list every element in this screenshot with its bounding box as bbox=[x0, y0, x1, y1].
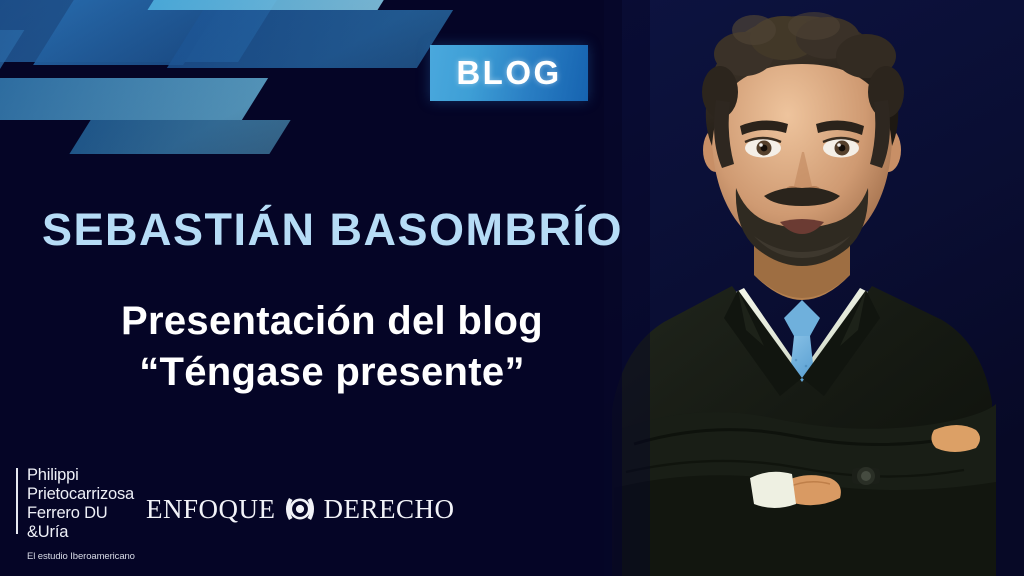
session-title-line-1: Presentación del blog bbox=[121, 299, 543, 343]
firm-tagline: El estudio Iberoamericano bbox=[27, 551, 135, 562]
law-firm-logo: Philippi Prietocarrizosa Ferrero DU &Urí… bbox=[16, 466, 135, 562]
firm-name-line-2: Prietocarrizosa bbox=[27, 485, 135, 504]
speaker-name-heading: SEBASTIÁN BASOMBRÍO bbox=[42, 206, 662, 253]
firm-logo-bar bbox=[16, 468, 18, 534]
session-title: Presentación del blog “Téngase presente” bbox=[0, 296, 664, 398]
eye-circle-icon bbox=[283, 494, 317, 524]
slide-canvas: BLOG SEBASTIÁN BASOMBRÍO Presentación de… bbox=[0, 0, 1024, 576]
session-title-line-2: “Téngase presente” bbox=[0, 347, 664, 398]
stripe-shape bbox=[33, 0, 277, 65]
firm-name-line-3: Ferrero DU bbox=[27, 504, 135, 523]
enfoque-derecho-logo[interactable]: ENFOQUE DERECHO bbox=[146, 494, 455, 524]
stripe-shape bbox=[148, 0, 403, 10]
firm-name-line-1: Philippi bbox=[27, 466, 135, 485]
brand-word-enfoque: ENFOQUE bbox=[146, 496, 276, 523]
stripe-shape bbox=[0, 0, 282, 62]
stripe-shape bbox=[167, 10, 453, 68]
blog-badge[interactable]: BLOG bbox=[430, 45, 588, 101]
portrait-photo bbox=[604, 0, 1024, 576]
stripe-shape bbox=[69, 120, 290, 154]
firm-name-line-4: &Uría bbox=[27, 523, 135, 542]
stripe-shape bbox=[0, 78, 268, 120]
stripe-shape bbox=[0, 30, 24, 76]
firm-logo-text: Philippi Prietocarrizosa Ferrero DU &Urí… bbox=[27, 466, 135, 562]
brand-word-derecho: DERECHO bbox=[324, 496, 455, 523]
blog-badge-label: BLOG bbox=[456, 54, 561, 92]
